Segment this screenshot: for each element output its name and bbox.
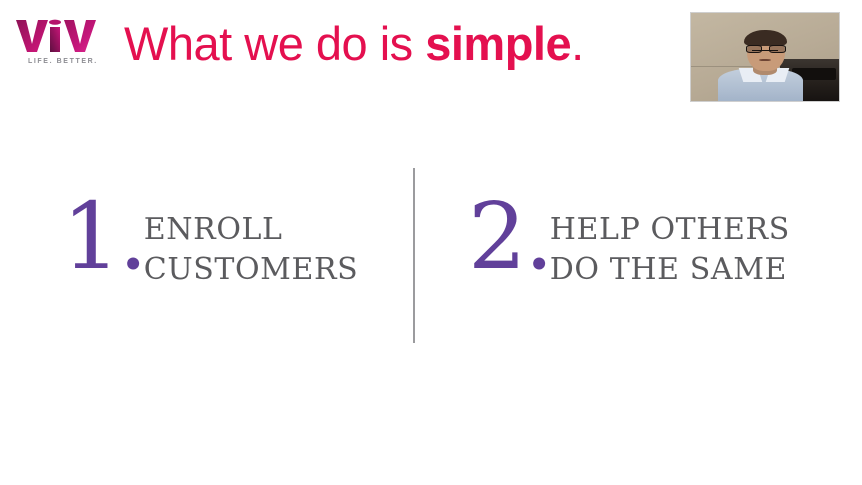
viv-logo: LIFE. BETTER.	[14, 18, 106, 76]
presentation-slide: LIFE. BETTER. What we do is simple.	[0, 0, 862, 485]
step-item-1: 1. ENROLL CUSTOMERS	[62, 200, 358, 290]
step-2-number: 2.	[468, 194, 552, 280]
step-1-line-1: ENROLL	[144, 210, 359, 250]
title-text-light: What we do is	[124, 17, 425, 70]
slide-title: What we do is simple.	[124, 18, 584, 70]
video-frame-content	[691, 13, 839, 101]
presenter-video-feed[interactable]	[690, 12, 840, 102]
step-1-number: 1.	[62, 194, 146, 280]
step-1-line-2: CUSTOMERS	[144, 250, 359, 290]
step-2-line-1: HELP OTHERS	[550, 210, 790, 250]
vertical-divider	[413, 168, 415, 343]
title-text-bold: simple	[425, 17, 571, 70]
step-2-line-2: DO THE SAME	[550, 250, 790, 290]
glasses-bridge	[752, 50, 779, 51]
logo-tagline: LIFE. BETTER.	[28, 58, 98, 65]
steps-container: 1. ENROLL CUSTOMERS 2. HELP OTHERS DO TH…	[0, 160, 862, 350]
step-item-2: 2. HELP OTHERS DO THE SAME	[468, 200, 790, 290]
viv-wordmark-icon	[14, 18, 102, 54]
title-text-end: .	[571, 17, 584, 70]
step-2-text: HELP OTHERS DO THE SAME	[550, 210, 790, 290]
step-1-text: ENROLL CUSTOMERS	[144, 210, 359, 290]
